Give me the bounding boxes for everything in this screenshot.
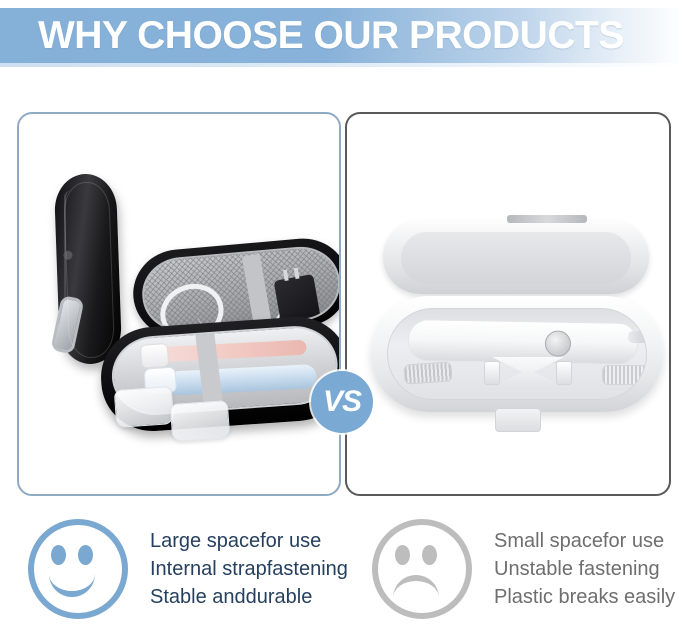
case-interior-well <box>387 308 647 400</box>
feature-comparison: Large spacefor use Internal strapfasteni… <box>0 510 679 628</box>
plastic-clip <box>556 361 572 385</box>
vs-badge: VS <box>311 371 373 433</box>
page-title: WHY CHOOSE OUR PRODUCTS <box>38 16 624 55</box>
comparison-panels: VS <box>0 112 679 494</box>
feature-line: Plastic breaks easily <box>494 583 675 611</box>
feature-line: Internal strapfastening <box>150 555 348 583</box>
feature-line: Large spacefor use <box>150 527 348 555</box>
brush-head-left <box>403 361 452 384</box>
smiley-face-icon <box>28 519 128 619</box>
toothbrush-neck <box>628 331 647 343</box>
other-product-feature-list: Small spacefor use Unstable fastening Pl… <box>494 527 675 611</box>
smiley-mouth <box>49 567 95 597</box>
brush-head-right <box>602 365 647 385</box>
zipper-stop <box>63 251 72 260</box>
vs-label: VS <box>323 387 361 417</box>
zipper-pull-icon <box>50 295 84 355</box>
brush-head-cover <box>170 400 231 442</box>
sad-mouth <box>393 575 439 605</box>
plastic-case-body <box>371 296 663 412</box>
smiley-right-eye <box>78 545 93 565</box>
interior-divider <box>492 357 564 387</box>
header-banner: WHY CHOOSE OUR PRODUCTS <box>0 8 679 63</box>
plastic-clip <box>484 361 500 385</box>
other-product-panel <box>345 112 671 496</box>
our-product-features: Large spacefor use Internal strapfasteni… <box>28 510 348 628</box>
toothbrush-power-button <box>545 330 571 356</box>
feature-line: Stable anddurable <box>150 583 348 611</box>
other-product-image <box>347 114 669 494</box>
lid-hinge <box>507 215 587 223</box>
pink-toothbrush <box>154 340 307 363</box>
closed-black-case <box>54 173 123 365</box>
blue-toothbrush <box>166 364 317 396</box>
plastic-case-lid <box>383 220 649 294</box>
pink-brush-head <box>140 343 170 369</box>
sad-right-eye <box>422 545 437 565</box>
our-product-panel <box>17 112 341 496</box>
our-product-feature-list: Large spacefor use Internal strapfasteni… <box>150 527 348 611</box>
sad-face-icon <box>372 519 472 619</box>
our-product-image <box>19 114 339 494</box>
brush-head-cover <box>114 386 175 428</box>
feature-line: Unstable fastening <box>494 555 675 583</box>
sad-left-eye <box>395 545 410 565</box>
case-latch <box>495 408 541 432</box>
header-underline-divider <box>0 63 679 67</box>
feature-line: Small spacefor use <box>494 527 675 555</box>
smiley-left-eye <box>51 545 66 565</box>
other-product-features: Small spacefor use Unstable fastening Pl… <box>372 510 675 628</box>
